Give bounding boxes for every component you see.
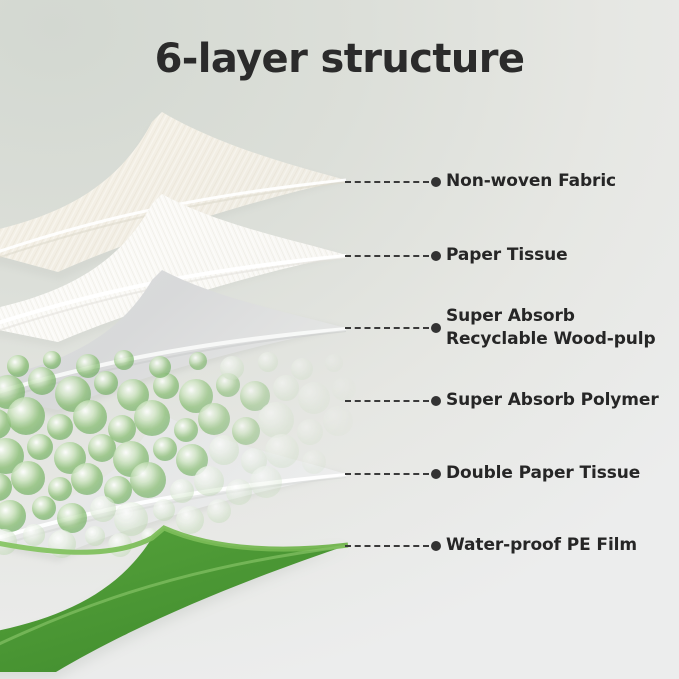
leader-line [345, 400, 429, 402]
leader-line [345, 327, 429, 329]
leader-dot [431, 541, 441, 551]
leader-dot [431, 177, 441, 187]
callout-label-wood-pulp-line2: Recyclable Wood-pulp [446, 329, 656, 349]
leader-line [345, 473, 429, 475]
leader-dot [431, 469, 441, 479]
callout-label-wood-pulp: Super AbsorbRecyclable Wood-pulp [446, 305, 656, 351]
leader-dot [431, 251, 441, 261]
leader-line [345, 181, 429, 183]
product-structure-illustration: 6-layer structure Non-woven Fabric Paper… [0, 0, 679, 679]
leader-line [345, 255, 429, 257]
leader-dot [431, 323, 441, 333]
leader-line [345, 545, 429, 547]
callout-label-pe-film: Water-proof PE Film [446, 534, 637, 557]
callout-label-nonwoven-fabric: Non-woven Fabric [446, 170, 616, 193]
layer-pe-film [0, 528, 348, 679]
callout-label-sap: Super Absorb Polymer [446, 389, 659, 412]
leader-dot [431, 396, 441, 406]
callout-label-wood-pulp-line1: Super Absorb [446, 306, 575, 326]
callout-label-paper-tissue: Paper Tissue [446, 244, 568, 267]
callout-label-double-paper-tissue: Double Paper Tissue [446, 462, 640, 485]
page-title: 6-layer structure [0, 36, 679, 82]
